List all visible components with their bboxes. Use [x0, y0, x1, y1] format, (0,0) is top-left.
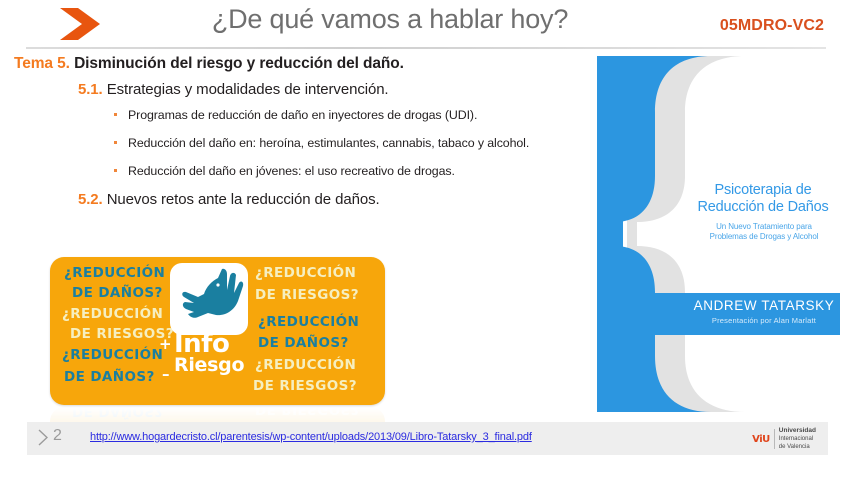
section-number: 5.1.	[78, 81, 103, 98]
book-presentation: Presentación por Alan Marlatt	[693, 316, 835, 325]
poster-word: ¿REDUCCIÓN	[258, 314, 359, 330]
poster-front: ¿REDUCCIÓNDE DAÑOS?¿REDUCCIÓNDE RIESGOS?…	[50, 257, 385, 405]
section-5-2: 5.2. Nuevos retos ante la reducción de d…	[78, 191, 600, 208]
poster-word: DE RIESGOS?	[255, 407, 359, 417]
source-url-link[interactable]: http://www.hogardecristo.cl/parentesis/w…	[90, 431, 532, 443]
book-title: Psicoterapia de Reducción de Daños	[693, 182, 833, 216]
poster-logo-text: Info Riesgo	[174, 333, 264, 374]
book-title-line1: Psicoterapia de	[715, 182, 812, 198]
viu-logo-line1: Universidad	[779, 427, 816, 434]
poster-word: DE RIESGOS?	[253, 378, 357, 394]
page-title: ¿De qué vamos a hablar hoy?	[140, 4, 640, 35]
list-item: Reducción del daño en jóvenes: el uso re…	[112, 163, 572, 181]
poster-logo-line2: Riesgo	[174, 357, 264, 374]
plus-icon: +	[159, 335, 172, 353]
topic-number: Tema 5.	[14, 55, 70, 72]
section-title: Estrategias y modalidades de intervenció…	[107, 81, 389, 98]
chevron-right-icon	[58, 7, 102, 41]
slide: ¿De qué vamos a hablar hoy? 05MDRO-VC2 T…	[0, 0, 848, 477]
list-item: Programas de reducción de daño en inyect…	[112, 107, 572, 125]
bird-hand-icon	[170, 263, 248, 335]
poster-word: DE DAÑOS?	[72, 285, 163, 301]
outline-content: Tema 5. Disminución del riesgo y reducci…	[0, 55, 600, 217]
poster-word: ¿REDUCCIÓN	[255, 357, 356, 373]
header-divider	[26, 47, 826, 49]
slide-header: ¿De qué vamos a hablar hoy? 05MDRO-VC2	[0, 0, 848, 48]
section-title: Nuevos retos ante la reducción de daños.	[107, 191, 380, 208]
poster-word: DE DAÑOS?	[258, 335, 349, 351]
viu-logo-divider	[774, 429, 775, 449]
course-code: 05MDRO-VC2	[720, 17, 824, 35]
poster-word: DE DAÑOS?	[72, 407, 163, 419]
poster-word: DE RIESGOS?	[255, 287, 359, 303]
viu-logo-line2: Internacional	[779, 436, 813, 442]
viu-logo-line3: de Valencia	[779, 444, 810, 450]
topic-title: Disminución del riesgo y reducción del d…	[74, 55, 404, 72]
topic-heading: Tema 5. Disminución del riesgo y reducci…	[14, 55, 600, 73]
poster-word: ¿REDUCCIÓN	[255, 265, 356, 281]
viu-logo: ViU Universidad Internacional de Valenci…	[752, 428, 816, 450]
section-5-1: 5.1. Estrategias y modalidades de interv…	[78, 81, 600, 98]
poster-word: ¿REDUCCIÓN	[64, 265, 165, 281]
chevron-right-icon	[38, 429, 48, 446]
book-subtitle: Un Nuevo Tratamiento para Problemas de D…	[693, 222, 835, 242]
minus-icon: –	[162, 365, 170, 383]
book-subtitle-line2: Problemas de Drogas y Alcohol	[710, 232, 819, 241]
bullet-list-5-1: Programas de reducción de daño en inyect…	[112, 107, 600, 181]
poster-word: ¿REDUCCIÓN	[62, 347, 163, 363]
section-number: 5.2.	[78, 191, 103, 208]
book-cover-psicoterapia: Psicoterapia de Reducción de Daños Un Nu…	[597, 56, 840, 412]
poster-word: ¿REDUCCIÓN	[62, 306, 163, 322]
viu-logo-mark: ViU	[752, 434, 770, 445]
book-title-line2: Reducción de Daños	[697, 199, 828, 215]
poster-word: DE DAÑOS?	[64, 369, 155, 385]
list-item: Reducción del daño en: heroína, estimula…	[112, 135, 572, 153]
page-number: 2	[53, 427, 62, 445]
slide-footer: 2 http://www.hogardecristo.cl/parentesis…	[27, 422, 828, 455]
book-author: ANDREW TATARSKY	[693, 298, 835, 313]
info-riesgo-poster: ¿REDUCCIÓNDE DAÑOS?¿REDUCCIÓNDE RIESGOS?…	[50, 257, 385, 447]
book-subtitle-line1: Un Nuevo Tratamiento para	[716, 222, 812, 231]
